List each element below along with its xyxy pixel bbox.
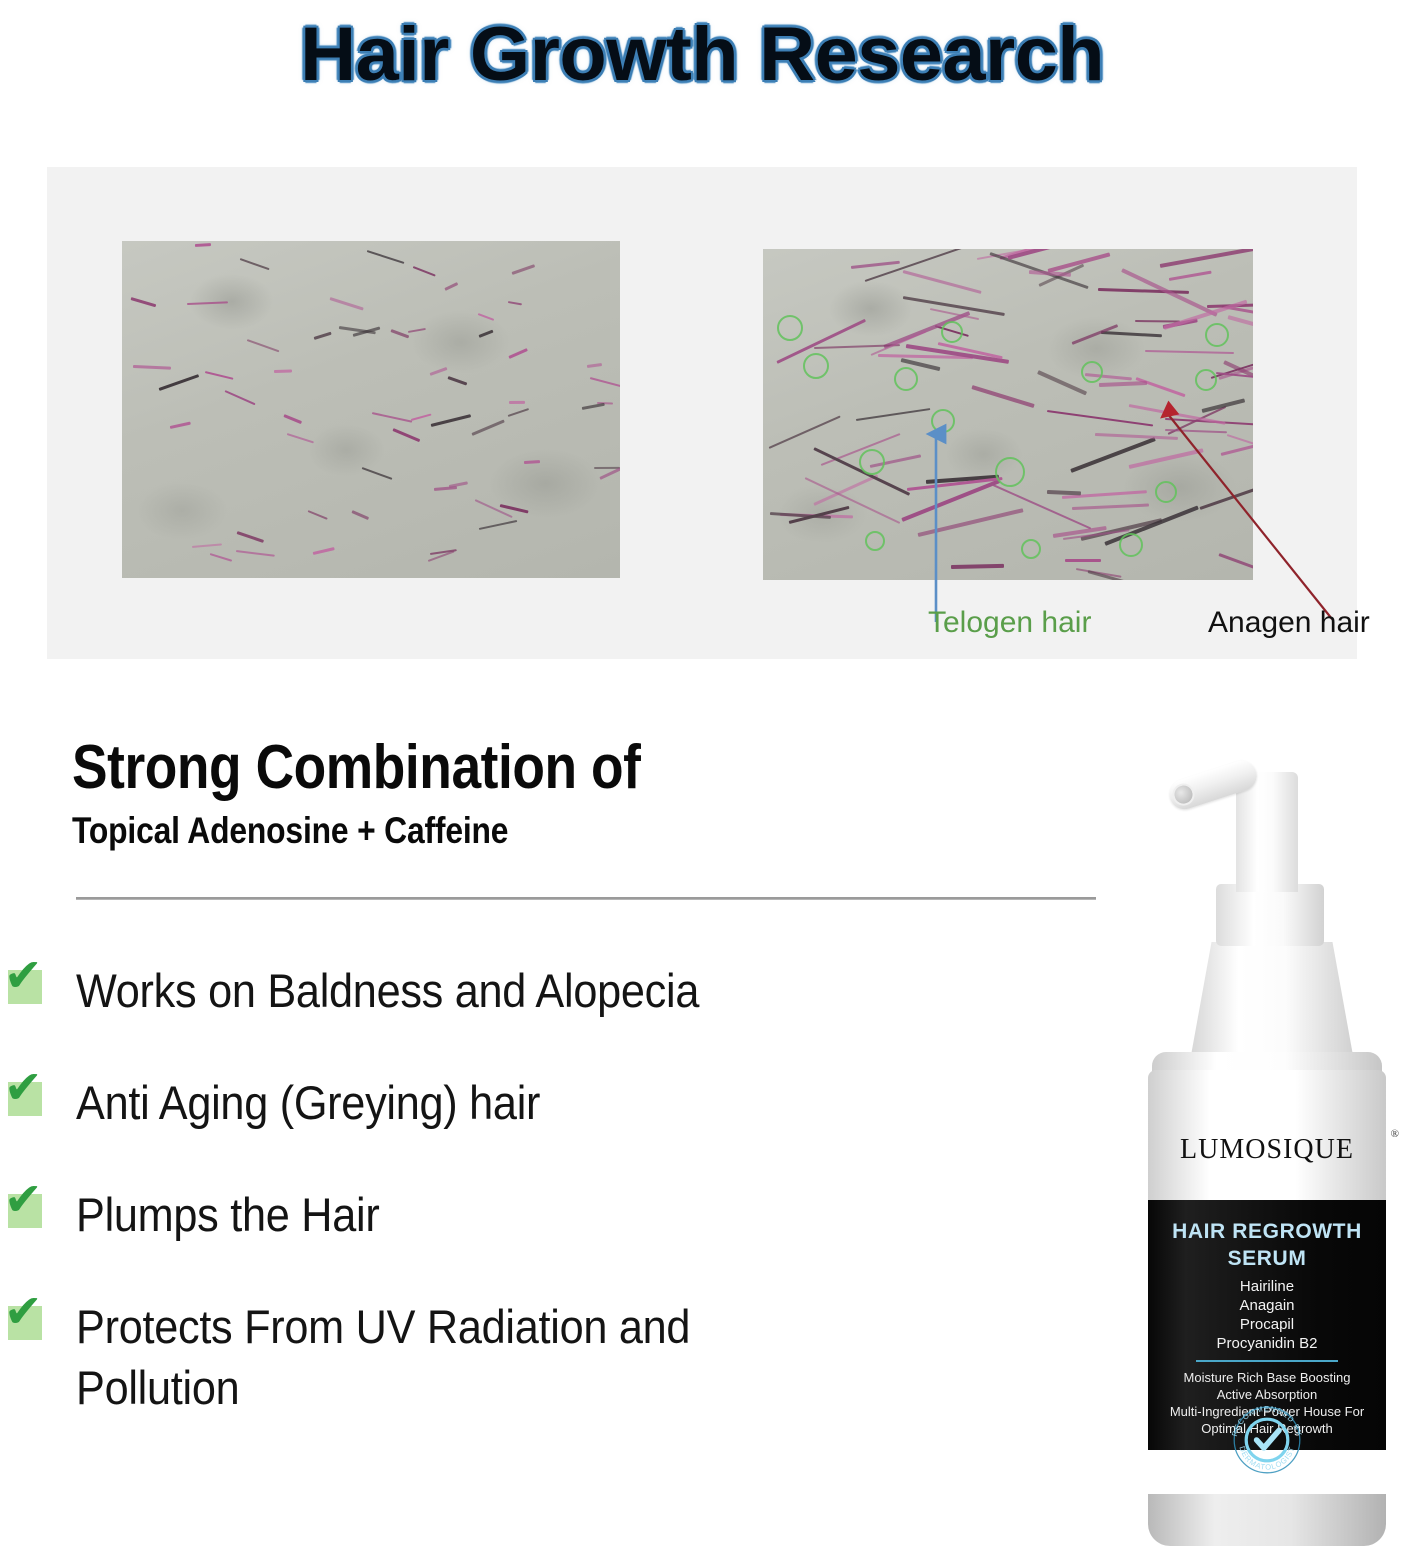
telogen-circle-marker <box>894 367 918 391</box>
telogen-circle-marker <box>1119 533 1143 557</box>
green-check-icon: ✔ <box>8 1194 42 1228</box>
benefit-text: Plumps the Hair <box>76 1184 379 1245</box>
telogen-circle-marker <box>859 449 885 475</box>
telogen-circle-marker <box>995 457 1025 487</box>
hair-shaft <box>1065 559 1100 561</box>
hair-shaft <box>274 369 292 372</box>
trichoscopy-after-image <box>763 249 1253 580</box>
bottle-base <box>1148 1494 1386 1546</box>
green-check-icon: ✔ <box>8 970 42 1004</box>
hair-shaft <box>195 243 211 247</box>
anagen-hair-label: Anagen hair <box>1208 606 1370 640</box>
hair-shaft <box>509 401 525 404</box>
page-title: Hair Growth Research <box>300 17 1104 93</box>
telogen-circle-marker <box>865 531 885 551</box>
scalp-background <box>122 241 620 578</box>
benefit-list: ✔Works on Baldness and Alopecia✔Anti Agi… <box>0 960 920 1464</box>
benefit-item: ✔Works on Baldness and Alopecia <box>0 960 920 1026</box>
telogen-circle-marker <box>1155 481 1177 503</box>
comparison-panel <box>47 167 1357 659</box>
headline-primary: Strong Combination of <box>72 735 966 800</box>
product-name-line1: HAIR REGROWTH <box>1148 1220 1386 1244</box>
telogen-circle-marker <box>1021 539 1041 559</box>
ingredient-item: Anagain <box>1148 1297 1386 1314</box>
benefit-text: Works on Baldness and Alopecia <box>76 960 699 1021</box>
benefit-item: ✔Anti Aging (Greying) hair <box>0 1072 920 1138</box>
ingredient-item: Hairiline <box>1148 1278 1386 1295</box>
green-check-icon: ✔ <box>8 1306 42 1340</box>
green-check-icon: ✔ <box>8 1082 42 1116</box>
telogen-circle-marker <box>777 315 803 341</box>
registered-trademark-icon: ® <box>1391 1128 1399 1140</box>
telogen-circle-marker <box>1081 361 1103 383</box>
title-band: Hair Growth Research <box>0 0 1404 110</box>
product-name-line2: SERUM <box>1148 1247 1386 1271</box>
section-divider <box>76 897 1096 900</box>
headline-block: Strong Combination of Topical Adenosine … <box>72 735 1112 853</box>
volume-text: 30 ml / e 1.01fl.oz <box>1148 1480 1386 1495</box>
telogen-circle-marker <box>941 321 963 343</box>
ingredient-item: Procapil <box>1148 1316 1386 1333</box>
benefit-item: ✔Plumps the Hair <box>0 1184 920 1250</box>
label-rule <box>1196 1360 1338 1362</box>
telogen-hair-label: Telogen hair <box>928 606 1091 640</box>
nozzle-tip <box>1170 781 1198 809</box>
product-bottle: LUMOSIQUE® HAIR REGROWTH SERUM Hairiline… <box>1128 752 1404 1500</box>
telogen-circle-marker <box>1205 323 1229 347</box>
telogen-circle-marker <box>1195 369 1217 391</box>
svg-text:DERMATOLOGIST: DERMATOLOGIST <box>1237 1445 1296 1472</box>
ingredient-item: Procyanidin B2 <box>1148 1335 1386 1352</box>
claim-line: Moisture Rich Base Boosting <box>1148 1370 1386 1385</box>
badge-bottom-text: DERMATOLOGIST <box>1237 1445 1296 1472</box>
benefit-text: Anti Aging (Greying) hair <box>76 1072 540 1133</box>
brand-lockup: LUMOSIQUE® <box>1148 1134 1386 1166</box>
dermatologist-badge-icon: RECOMMENDED BY DERMATOLOGIST <box>1227 1400 1307 1480</box>
headline-secondary: Topical Adenosine + Caffeine <box>72 810 966 853</box>
benefit-item: ✔Protects From UV Radiation and Pollutio… <box>0 1296 920 1418</box>
benefit-text: Protects From UV Radiation and Pollution <box>76 1296 690 1418</box>
telogen-circle-marker <box>931 409 955 433</box>
telogen-circle-marker <box>803 353 829 379</box>
brand-name: LUMOSIQUE <box>1180 1134 1354 1166</box>
pump-collar <box>1216 884 1324 946</box>
trichoscopy-before-image <box>122 241 620 578</box>
